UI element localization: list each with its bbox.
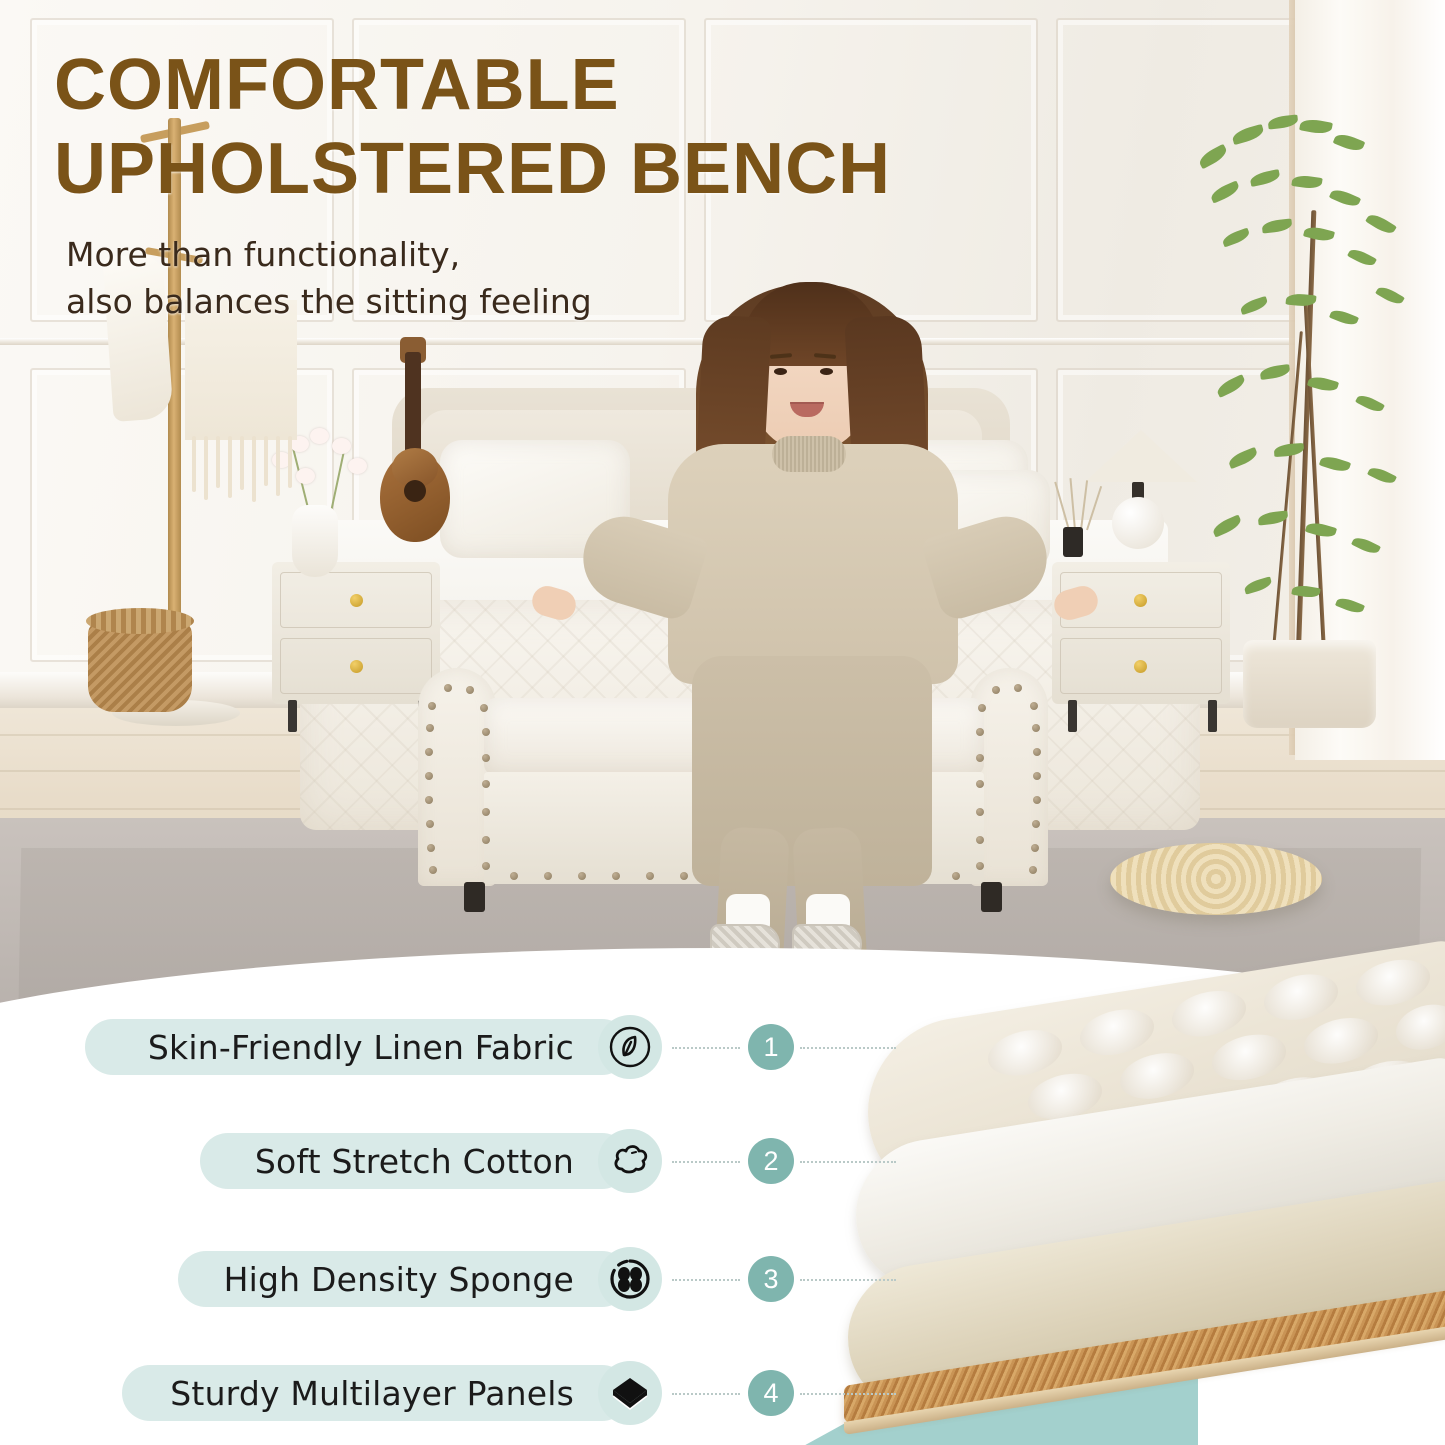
cloud-icon-glyph <box>608 1139 652 1183</box>
feature-label: Sturdy Multilayer Panels <box>170 1374 574 1413</box>
step-number-badge: 1 <box>748 1024 794 1070</box>
step-number: 1 <box>763 1032 778 1063</box>
feature-pill[interactable]: Skin-Friendly Linen Fabric <box>85 1019 630 1075</box>
cross-section-layers <box>838 985 1445 1445</box>
straw-floor-cushion <box>1110 843 1322 915</box>
step-number: 2 <box>763 1146 778 1177</box>
infographic-canvas: COMFORTABLE UPHOLSTERED BENCH More than … <box>0 0 1445 1445</box>
connector-line <box>800 1161 896 1163</box>
leaf-icon <box>598 1015 662 1079</box>
feature-row[interactable]: High Density Sponge 3 <box>0 1250 630 1308</box>
feature-label: Soft Stretch Cotton <box>255 1142 574 1181</box>
feature-row[interactable]: Sturdy Multilayer Panels 4 <box>0 1364 630 1422</box>
subtitle-line-2: also balances the sitting feeling <box>66 279 1064 326</box>
step-number-badge: 4 <box>748 1370 794 1416</box>
nightstand-right <box>1052 562 1230 704</box>
nightstand-left <box>272 562 440 704</box>
feature-label: High Density Sponge <box>224 1260 574 1299</box>
step-number-badge: 3 <box>748 1256 794 1302</box>
feature-pill[interactable]: Sturdy Multilayer Panels <box>122 1365 630 1421</box>
leaf-icon-glyph <box>608 1025 652 1069</box>
feature-row[interactable]: Skin-Friendly Linen Fabric 1 <box>0 1018 630 1076</box>
subtitle-block: More than functionality, also balances t… <box>66 232 1064 326</box>
plant-pot <box>1243 640 1376 728</box>
step-number: 4 <box>763 1378 778 1409</box>
step-number-badge: 2 <box>748 1138 794 1184</box>
sponge-cells-icon <box>598 1247 662 1311</box>
headline-block: COMFORTABLE UPHOLSTERED BENCH More than … <box>54 48 1064 326</box>
feature-label: Skin-Friendly Linen Fabric <box>148 1028 574 1067</box>
feature-pill[interactable]: Soft Stretch Cotton <box>200 1133 630 1189</box>
subtitle-line-1: More than functionality, <box>66 232 1064 279</box>
connector-line <box>800 1047 896 1049</box>
connector-line <box>800 1279 896 1281</box>
feature-row[interactable]: Soft Stretch Cotton 2 <box>0 1132 630 1190</box>
headline-line-1: COMFORTABLE <box>54 48 1064 122</box>
bench-leg <box>464 882 485 912</box>
connector-line <box>672 1047 740 1049</box>
board-slab-icon <box>598 1361 662 1425</box>
connector-line <box>672 1279 740 1281</box>
connector-line <box>672 1161 740 1163</box>
feature-pill[interactable]: High Density Sponge <box>178 1251 630 1307</box>
headline-line-2: UPHOLSTERED BENCH <box>54 132 1064 206</box>
connector-line <box>800 1393 896 1395</box>
board-slab-icon-glyph <box>608 1371 652 1415</box>
model-woman <box>600 276 1030 956</box>
cloud-icon <box>598 1129 662 1193</box>
sponge-cells-icon-glyph <box>608 1257 652 1301</box>
step-number: 3 <box>763 1264 778 1295</box>
connector-line <box>672 1393 740 1395</box>
feature-list: Skin-Friendly Linen Fabric 1 Soft Stretc… <box>0 960 860 1430</box>
